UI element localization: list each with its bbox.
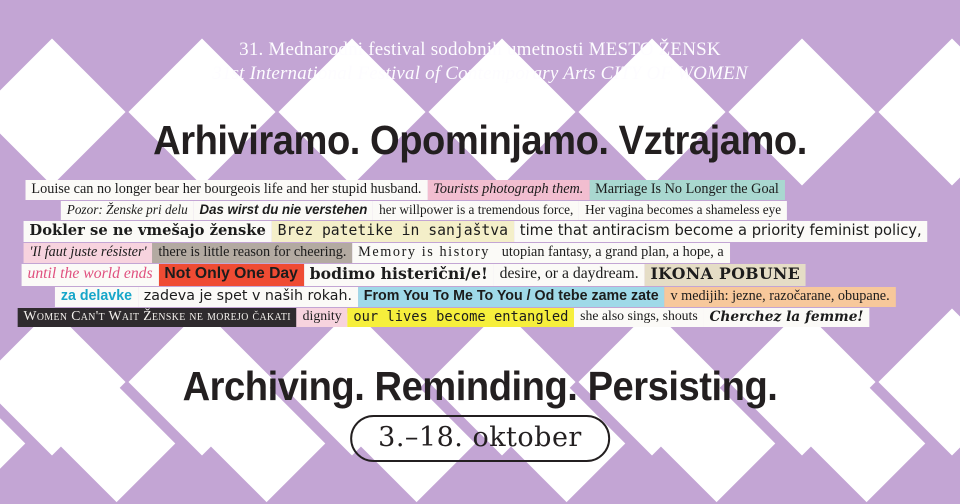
collage-row: za delavkezadeva je spet v naših rokah.F… — [0, 287, 942, 307]
headline-english: Archiving. Reminding. Persisting. — [34, 363, 927, 410]
collage-quote-strip: Her vagina becomes a shameless eye — [579, 201, 787, 220]
collage-quote-strip: Not Only One Day — [159, 264, 304, 286]
collage-quote-strip: Pozor: Ženske pri delu — [61, 201, 194, 220]
festival-date-badge: 3.–18. oktober — [350, 415, 610, 462]
collage-quote-strip: IKONA POBUNE — [645, 264, 806, 286]
collage-quote-strip: there is little reason for cheering. — [152, 243, 352, 263]
collage-quote-strip: Cherchez la femme! — [704, 308, 870, 328]
collage-quote-strip: Memory is history — [352, 243, 496, 263]
collage-quote-strip: utopian fantasy, a grand plan, a hope, a — [496, 243, 730, 263]
collage-quote-strip: dignity — [297, 308, 348, 328]
festival-poster: 31. Mednarodni festival sodobnih umetnos… — [0, 0, 960, 504]
festival-header: 31. Mednarodni festival sodobnih umetnos… — [0, 38, 960, 86]
collage-quote-strip: until the world ends — [22, 264, 159, 286]
collage-quote-strip: Louise can no longer bear her bourgeois … — [26, 180, 428, 200]
quote-collage: Louise can no longer bear her bourgeois … — [0, 180, 960, 328]
collage-row: Pozor: Ženske pri deluDas wirst du nie v… — [0, 201, 942, 220]
collage-row: until the world endsNot Only One Daybodi… — [0, 264, 942, 286]
collage-quote-strip: Tourists photograph them. — [427, 180, 589, 200]
collage-quote-strip: Marriage Is No Longer the Goal — [589, 180, 784, 200]
collage-quote-strip: Women Can't Wait Ženske ne morejo čakati — [18, 308, 297, 328]
collage-quote-strip: desire, or a daydream. — [494, 264, 645, 286]
collage-quote-strip: zadeva je spet v naših rokah. — [138, 287, 358, 307]
collage-quote-strip: our lives become entangled — [347, 308, 574, 328]
festival-title-en: 31st International Festival of Contempor… — [0, 62, 960, 86]
collage-quote-strip: bodimo histerični/e! — [304, 264, 494, 286]
collage-quote-strip: Das wirst du nie verstehen — [194, 201, 374, 220]
headline-slovenian: Arhiviramo. Opominjamo. Vztrajamo. — [34, 117, 927, 164]
collage-row: 'Il faut juste résister'there is little … — [0, 243, 942, 263]
collage-quote-strip: she also sings, shouts — [574, 308, 703, 328]
collage-row: Women Can't Wait Ženske ne morejo čakati… — [0, 308, 942, 328]
festival-title-sl: 31. Mednarodni festival sodobnih umetnos… — [0, 38, 960, 62]
collage-row: Louise can no longer bear her bourgeois … — [0, 180, 942, 200]
collage-quote-strip: 'Il faut juste résister' — [24, 243, 153, 263]
collage-quote-strip: time that antiracism become a priority f… — [514, 221, 928, 242]
collage-quote-strip: From You To Me To You / Od tebe zame zat… — [358, 287, 665, 307]
collage-row: Dokler se ne vmešajo ženskeBrez patetike… — [0, 221, 942, 242]
collage-quote-strip: her willpower is a tremendous force, — [373, 201, 579, 220]
collage-quote-strip: za delavke — [55, 287, 138, 307]
pattern-diamond — [0, 385, 25, 503]
collage-quote-strip: Brez patetike in sanjaštva — [272, 221, 514, 242]
collage-quote-strip: Dokler se ne vmešajo ženske — [24, 221, 272, 242]
collage-quote-strip: v medijih: jezne, razočarane, obupane. — [665, 287, 896, 307]
